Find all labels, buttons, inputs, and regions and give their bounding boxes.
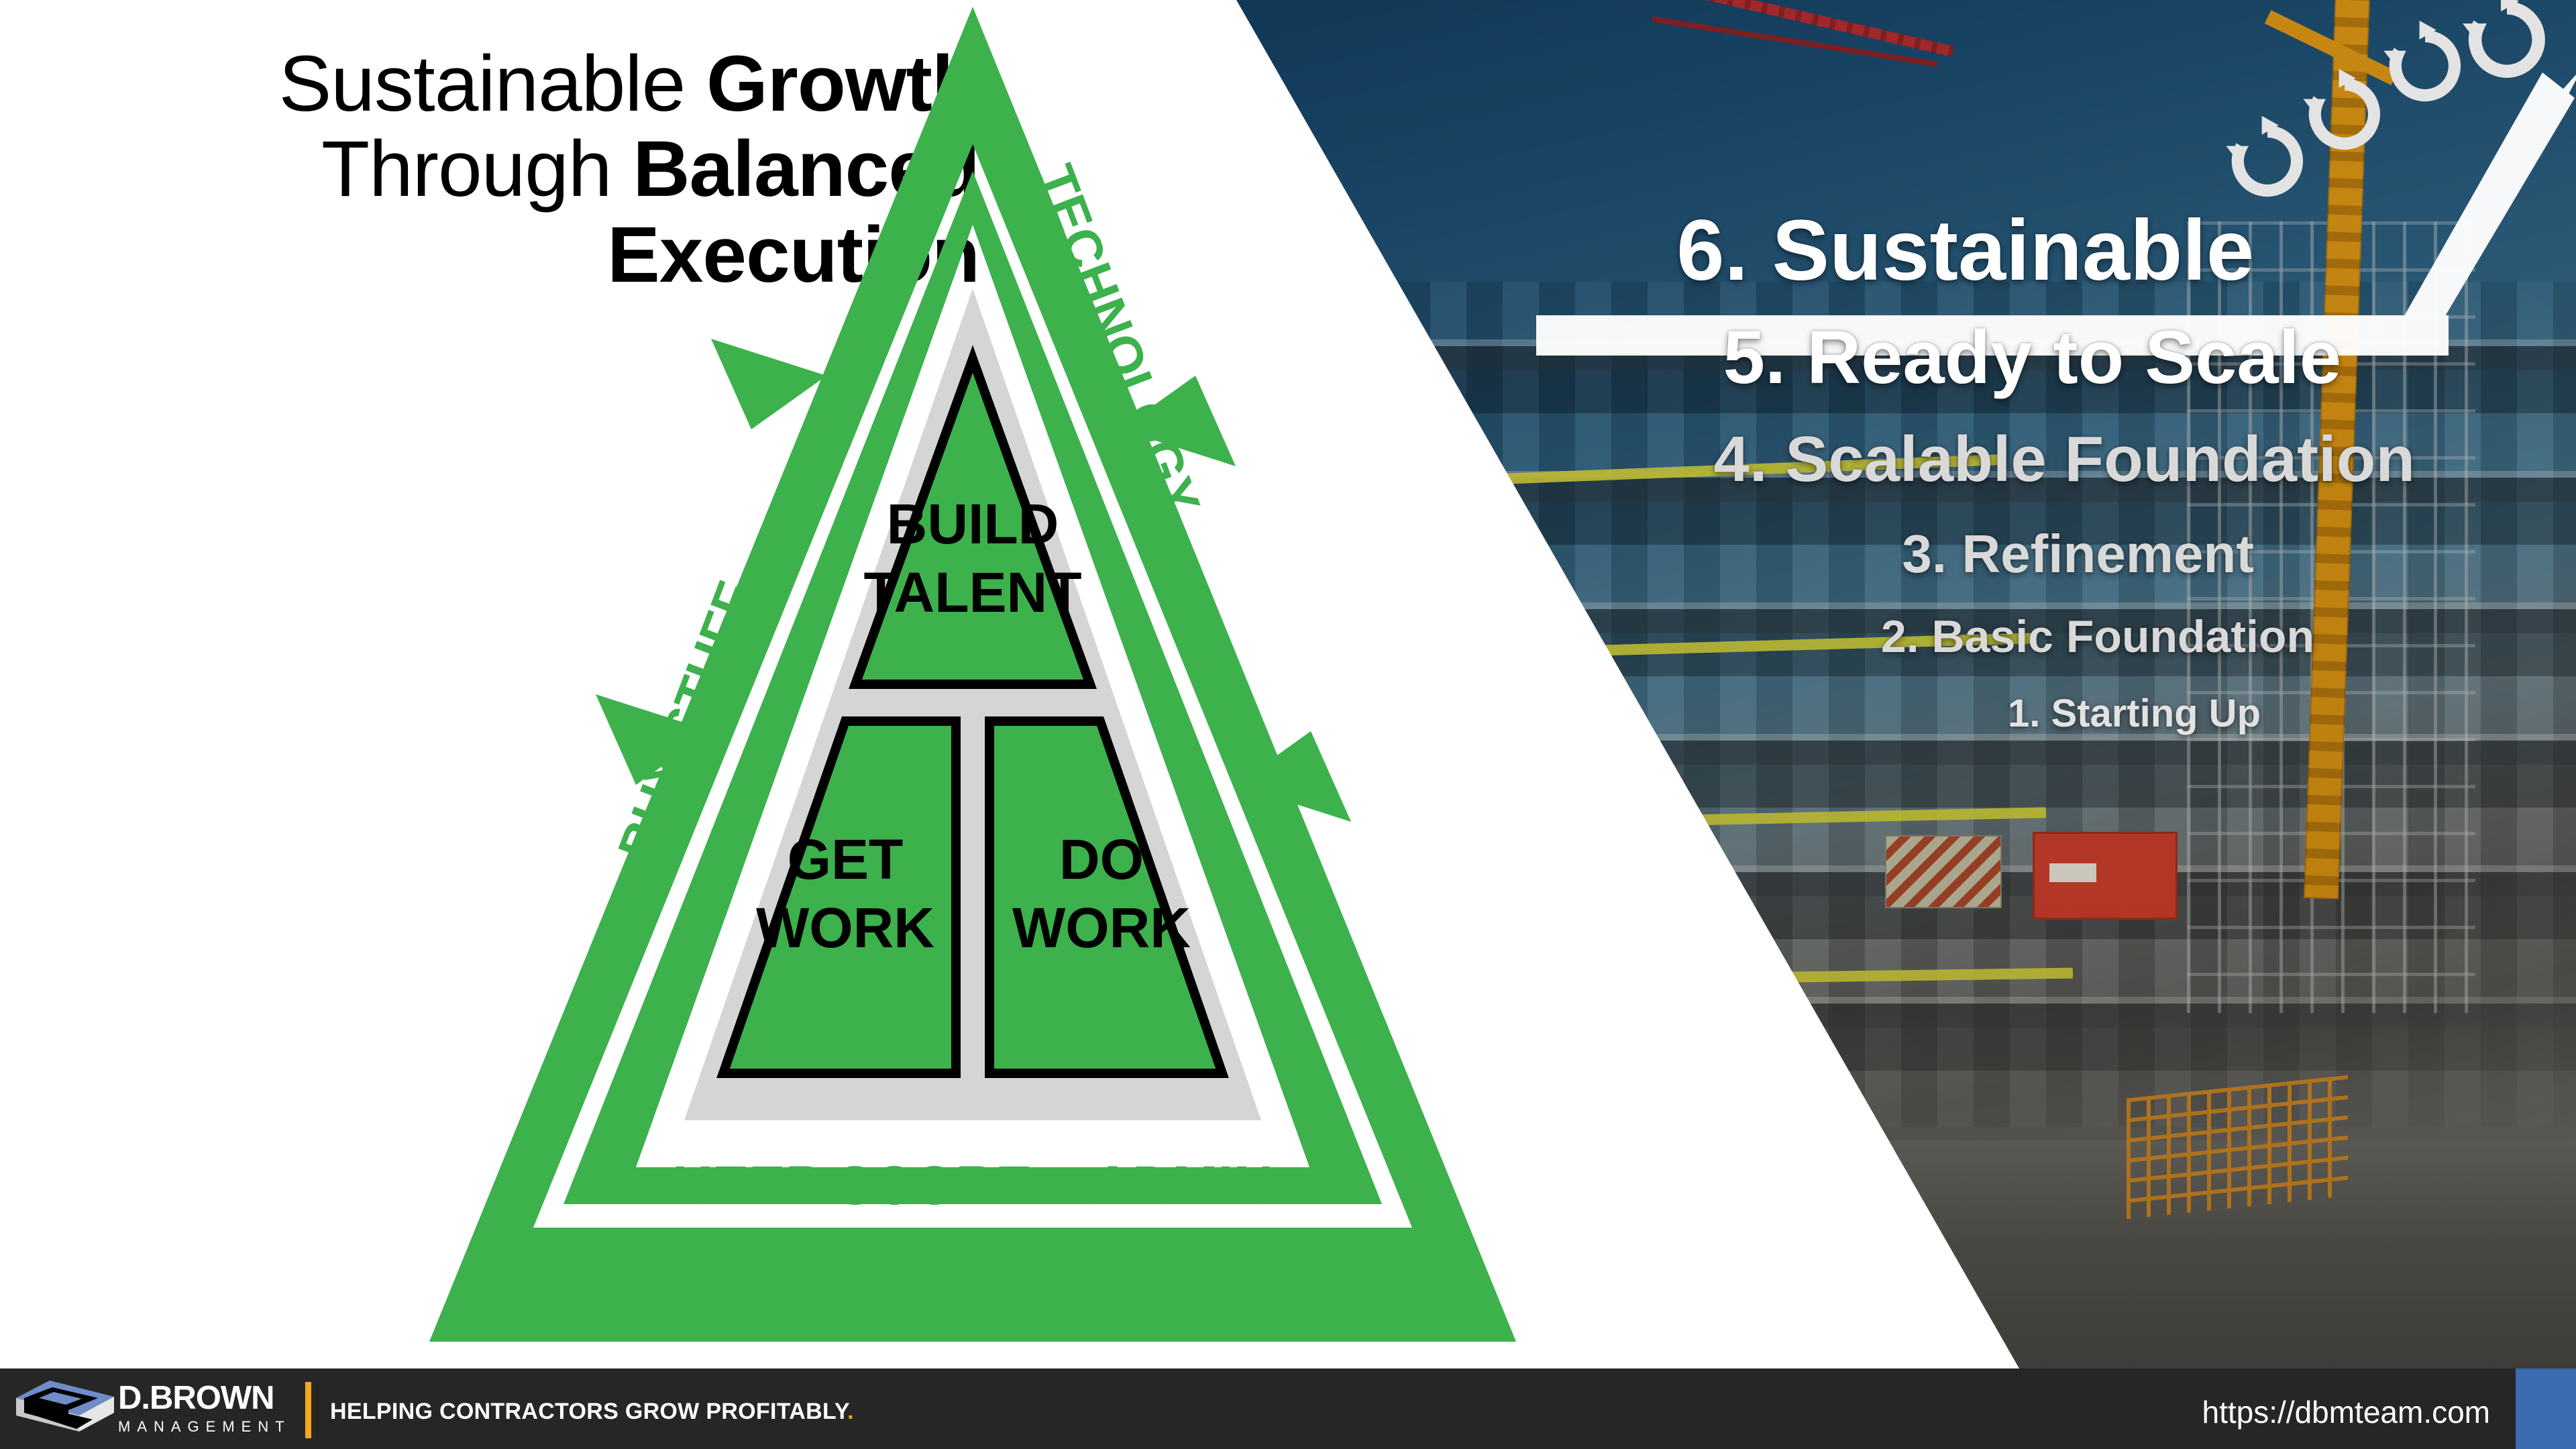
stage-item-2[interactable]: 2. Basic Foundation <box>1881 610 2314 663</box>
footer-tagline: HELPING CONTRACTORS GROW PROFITABLY. <box>330 1399 854 1425</box>
stage-item-3[interactable]: 3. Refinement <box>1902 523 2254 585</box>
cell-label-do-work-line2: WORK <box>1012 896 1191 959</box>
footer-tagline-dot: . <box>847 1399 854 1424</box>
footer-tagline-text: HELPING CONTRACTORS GROW PROFITABLY <box>330 1399 847 1424</box>
footer-divider <box>305 1382 311 1438</box>
footer-bar: D.BROWN MANAGEMENT HELPING CONTRACTORS G… <box>0 1368 2576 1449</box>
footer-blue-block <box>2516 1368 2576 1449</box>
growth-stage-list: 6. Sustainable 5. Ready to Scale 4. Scal… <box>1442 201 2576 1114</box>
cell-label-build-talent-line2: TALENT <box>863 561 1081 624</box>
balanced-execution-triangle: BUILD TALENT GET WORK DO WORK BUY STUFF … <box>376 0 1570 1375</box>
brand-subtitle: MANAGEMENT <box>118 1417 291 1437</box>
slide-canvas: Sustainable Growth Through Balanced Exec… <box>0 0 2576 1449</box>
cycle-icon <box>2298 67 2392 161</box>
stage-item-5[interactable]: 5. Ready to Scale <box>1723 314 2341 400</box>
stage-item-1[interactable]: 1. Starting Up <box>2008 691 2261 736</box>
stage-item-4[interactable]: 4. Scalable Foundation <box>1714 423 2416 496</box>
cell-label-get-work-line1: GET <box>788 828 904 891</box>
brand-name: D.BROWN <box>118 1382 291 1414</box>
cell-label-get-work-line2: WORK <box>756 896 934 959</box>
brand-lockup: D.BROWN MANAGEMENT <box>118 1382 291 1437</box>
dbrown-logo-icon <box>12 1378 119 1440</box>
cell-label-build-talent-line1: BUILD <box>887 492 1059 555</box>
footer-url[interactable]: https://dbmteam.com <box>2202 1394 2491 1430</box>
cell-label-do-work-line1: DO <box>1059 828 1144 891</box>
cycle-icon <box>2457 0 2557 90</box>
stage-item-6[interactable]: 6. Sustainable <box>1676 201 2254 300</box>
base-label-keep-score-admin: KEEP SCORE + ADMIN <box>672 1155 1273 1216</box>
